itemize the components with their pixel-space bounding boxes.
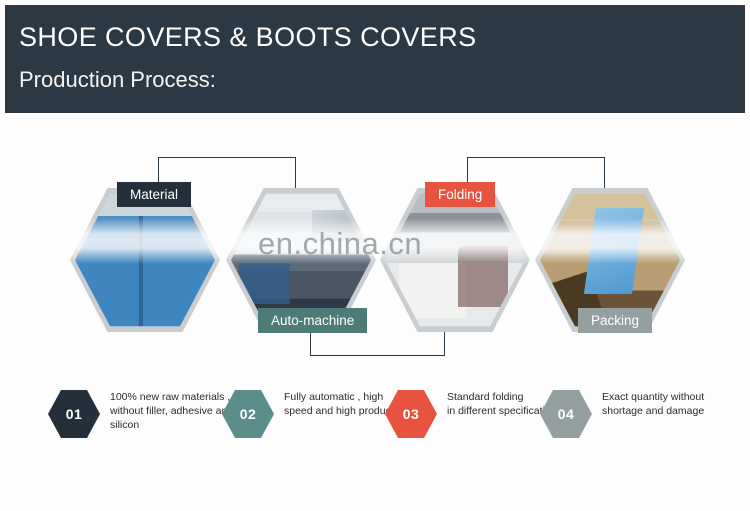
feature-item-02[interactable]: 02 Fully automatic , high speed and high… <box>222 382 412 462</box>
hexagon-frame <box>380 185 530 335</box>
stage-label-folding[interactable]: Folding <box>425 182 495 207</box>
photo-material <box>75 191 215 329</box>
stage-label-packing[interactable]: Packing <box>578 308 652 333</box>
feature-list: 01 100% new raw materials , without fill… <box>0 382 750 472</box>
connector-3-horizontal <box>467 157 605 158</box>
feature-item-04[interactable]: 04 Exact quantity without shortage and d… <box>540 382 730 462</box>
feature-text-line: shortage and damage <box>602 404 742 418</box>
header-banner: SHOE COVERS & BOOTS COVERS Production Pr… <box>5 5 745 113</box>
feature-number-badge-01: 01 <box>48 390 100 438</box>
page-root: SHOE COVERS & BOOTS COVERS Production Pr… <box>0 0 750 511</box>
hexagon-photo-clip <box>385 191 525 329</box>
connector-1-horizontal <box>158 157 296 158</box>
feature-number-badge-04: 04 <box>540 390 592 438</box>
stage-label-material[interactable]: Material <box>117 182 191 207</box>
stage-label-auto-machine[interactable]: Auto-machine <box>258 308 367 333</box>
connector-2-horizontal <box>310 355 445 356</box>
feature-number-badge-03: 03 <box>385 390 437 438</box>
stage-image-folding[interactable] <box>380 185 530 335</box>
feature-text-04: Exact quantity without shortage and dama… <box>602 390 742 418</box>
hexagon-frame <box>70 185 220 335</box>
photo-folding <box>385 191 525 329</box>
stage-image-material[interactable] <box>70 185 220 335</box>
feature-number-badge-02: 02 <box>222 390 274 438</box>
hexagon-photo-clip <box>75 191 215 329</box>
page-subtitle: Production Process: <box>19 67 216 93</box>
page-title: SHOE COVERS & BOOTS COVERS <box>19 22 477 53</box>
production-process-diagram <box>0 113 750 378</box>
feature-item-01[interactable]: 01 100% new raw materials , without fill… <box>48 382 248 462</box>
feature-text-line: Exact quantity without <box>602 390 742 404</box>
